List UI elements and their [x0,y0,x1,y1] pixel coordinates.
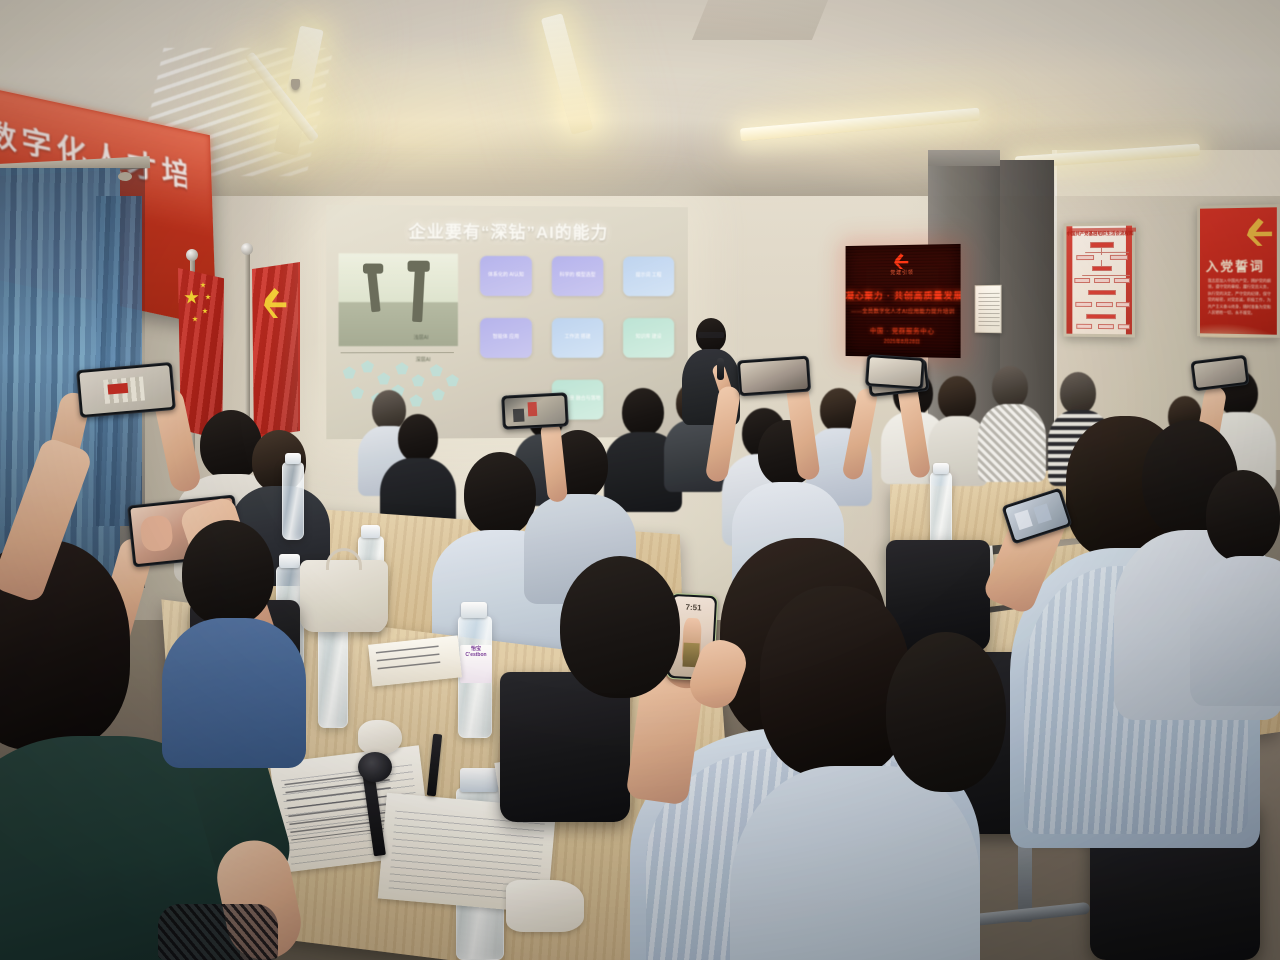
diamond-icon [410,394,423,406]
phone-screen [1194,358,1247,388]
org-node [1086,314,1116,319]
capability-box: 科学的 模型选型 [552,256,604,296]
poster-red-border [1066,226,1072,333]
water-bottle [282,462,304,540]
phone-camera-viewfinder [737,356,811,397]
party-oath-title: 入党誓词 [1206,256,1265,275]
org-connector [1082,275,1130,276]
handbag [300,560,388,632]
capability-box: 提示词 工程 [623,256,674,296]
org-node [1116,302,1130,307]
water-bottle: 怡宝 C'estbon [458,616,492,738]
phone-landscape-recording [76,362,176,418]
flag-fold-shading [252,262,298,434]
lace-sleeve-detail [158,904,278,960]
ceiling-vent [692,0,828,40]
poster-ribbon-graphic [1200,290,1277,339]
bottle-label: 怡宝 C'estbon [460,645,492,683]
tissue [506,880,584,932]
slide-title: 企业要有“深钻”AI的能力 [326,217,688,244]
bottle-cap [285,453,301,464]
water-bottle [930,472,952,548]
bottle-cap [361,525,380,538]
org-node [1075,302,1092,307]
pen-clip-knob [358,752,392,782]
capability-box: 智能体 应用 [480,318,532,358]
smoke-detector-icon [118,172,132,181]
org-chart-title: 中国共产党基层组织生活会流程图 [1066,231,1132,238]
conference-room-photo: 数字化人才培训 企业要有“深钻”AI的能力 浅层AI 深层AI [0,0,1280,960]
org-node [1096,302,1113,307]
flag-pole-finial [241,243,253,255]
org-connector [1101,260,1102,266]
slide-caption-upper: 浅层AI [414,334,429,341]
sprinkler-head-icon [291,79,300,90]
capability-box: 体系化的 AI认知 [480,256,532,296]
led-banner-screen: 党建引领 凝心聚力 · 共创高质量发展 ——全员数字化人才AI应用能力提升培训 … [846,244,961,358]
slide-illustration [339,253,458,346]
org-node [1076,255,1094,260]
diamond-icon [412,374,425,386]
tissue [358,720,402,754]
org-node [1114,278,1130,283]
pillar-capital [928,150,1000,166]
org-node [1118,324,1130,329]
bottle-cap [279,554,300,568]
org-node [1090,242,1114,248]
document-text [376,646,441,674]
notice-text-lines [978,293,999,327]
org-node [1110,255,1128,260]
flag-pole-finial [186,249,198,261]
capability-box: 知识库 建设 [623,318,674,358]
capability-box: 工作流 搭建 [552,318,604,358]
phone-raised-shooting [865,354,925,390]
led-scanline-overlay [846,244,961,358]
slide-divider [341,352,454,353]
org-node [1094,278,1110,283]
phone-screen [740,359,808,394]
phone-screen [79,365,172,415]
diamond-icon [446,374,459,386]
glasses-icon [698,332,724,338]
party-flag [252,262,300,438]
phone-camera-viewfinder [501,392,569,429]
diamond-icon [361,360,374,372]
org-node [1088,290,1116,295]
diamond-icon [432,388,445,400]
bottle-cap [933,463,949,474]
water-bottle [318,616,348,728]
org-node [1098,324,1114,329]
diamond-icon [377,372,390,384]
microphone-icon [717,358,724,380]
org-node [1076,324,1092,329]
diamond-icon [351,387,364,399]
bottle-cap [460,768,498,792]
org-chart-poster: 中国共产党基层组织生活会流程图 [1064,223,1135,338]
bottle-cap blue [461,602,487,618]
diamond-icon [343,366,356,378]
party-oath-poster: 入党誓词 我志愿加入中国共产党，拥护党的纲领，遵守党的章程，履行党员义务，执行党… [1197,204,1280,338]
diamond-icon [430,364,443,376]
diamond-icon [395,362,408,374]
pillar-notice-sheet [975,285,1002,333]
phone-screen [504,395,565,426]
org-node [1092,266,1112,271]
phone-screen [868,357,922,387]
org-node [1074,278,1090,283]
